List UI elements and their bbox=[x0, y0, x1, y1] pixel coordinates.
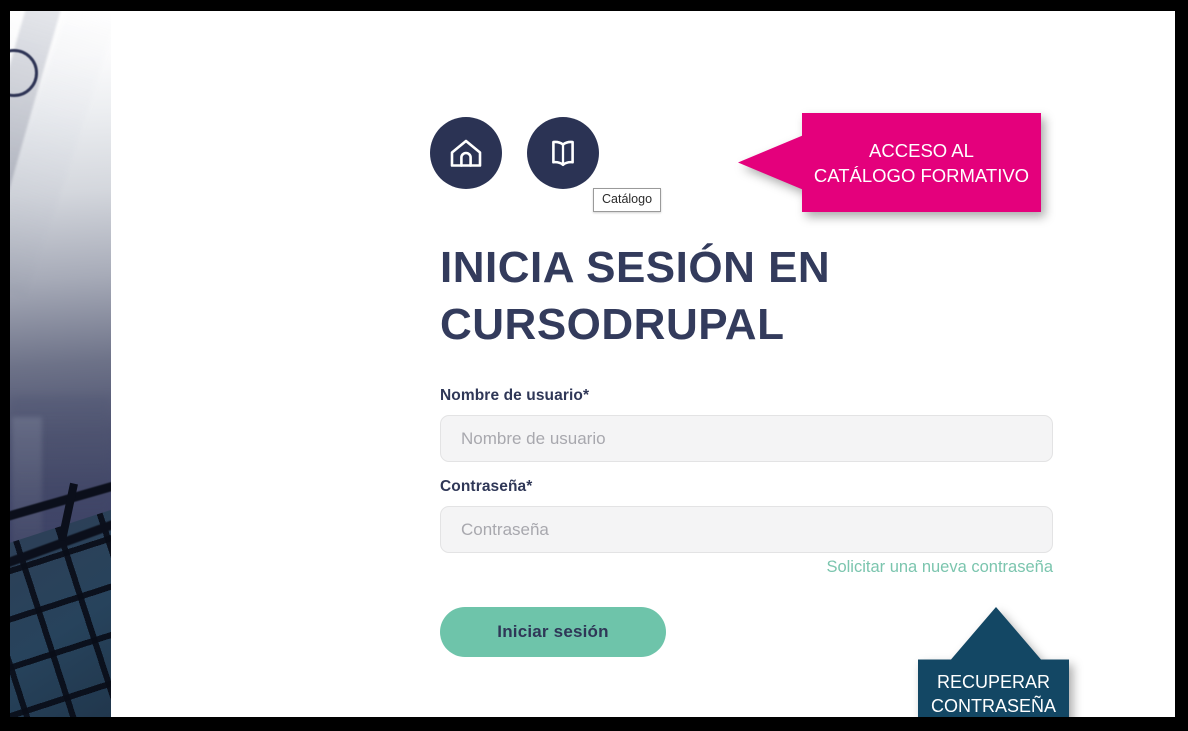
annotation-catalog-access: ACCESO AL CATÁLOGO FORMATIVO bbox=[738, 113, 1041, 212]
annotation-recovery-line2: CONTRASEÑA bbox=[931, 694, 1056, 717]
request-new-password-link[interactable]: Solicitar una nueva contraseña bbox=[440, 558, 1053, 577]
book-icon bbox=[544, 134, 582, 172]
annotation-password-recovery: RECUPERAR CONTRASEÑA bbox=[918, 607, 1069, 717]
username-input[interactable] bbox=[440, 415, 1053, 462]
username-required-marker: * bbox=[583, 387, 589, 404]
annotation-recovery-text: RECUPERAR CONTRASEÑA bbox=[918, 659, 1069, 717]
home-icon bbox=[446, 133, 486, 173]
password-label: Contraseña* bbox=[440, 478, 1053, 496]
page-title: Inicia sesión en CursoDrupal bbox=[440, 239, 970, 353]
password-label-text: Contraseña bbox=[440, 478, 526, 495]
annotation-recovery-line1: RECUPERAR bbox=[937, 670, 1050, 694]
annotation-catalog-text: ACCESO AL CATÁLOGO FORMATIVO bbox=[802, 113, 1041, 212]
password-required-marker: * bbox=[526, 478, 532, 495]
password-input[interactable] bbox=[440, 506, 1053, 553]
hero-glass-roof bbox=[10, 417, 111, 717]
screenshot-frame: Catálogo Inicia sesión en CursoDrupal No… bbox=[0, 0, 1188, 731]
username-label: Nombre de usuario* bbox=[440, 387, 1053, 405]
hero-photo-strip bbox=[10, 11, 111, 717]
login-page: Catálogo Inicia sesión en CursoDrupal No… bbox=[10, 11, 1175, 717]
login-content: Catálogo Inicia sesión en CursoDrupal No… bbox=[111, 11, 1175, 717]
annotation-catalog-line1: ACCESO AL bbox=[869, 138, 974, 163]
username-label-text: Nombre de usuario bbox=[440, 387, 583, 404]
home-icon-button[interactable] bbox=[430, 117, 502, 189]
annotation-catalog-line2: CATÁLOGO FORMATIVO bbox=[814, 163, 1029, 188]
password-field-group: Contraseña* Solicitar una nueva contrase… bbox=[440, 478, 1053, 577]
login-submit-button[interactable]: Iniciar sesión bbox=[440, 607, 666, 657]
catalog-tooltip: Catálogo bbox=[593, 188, 661, 212]
nav-icon-row bbox=[430, 117, 599, 189]
username-field-group: Nombre de usuario* bbox=[440, 387, 1053, 462]
catalog-icon-button[interactable] bbox=[527, 117, 599, 189]
